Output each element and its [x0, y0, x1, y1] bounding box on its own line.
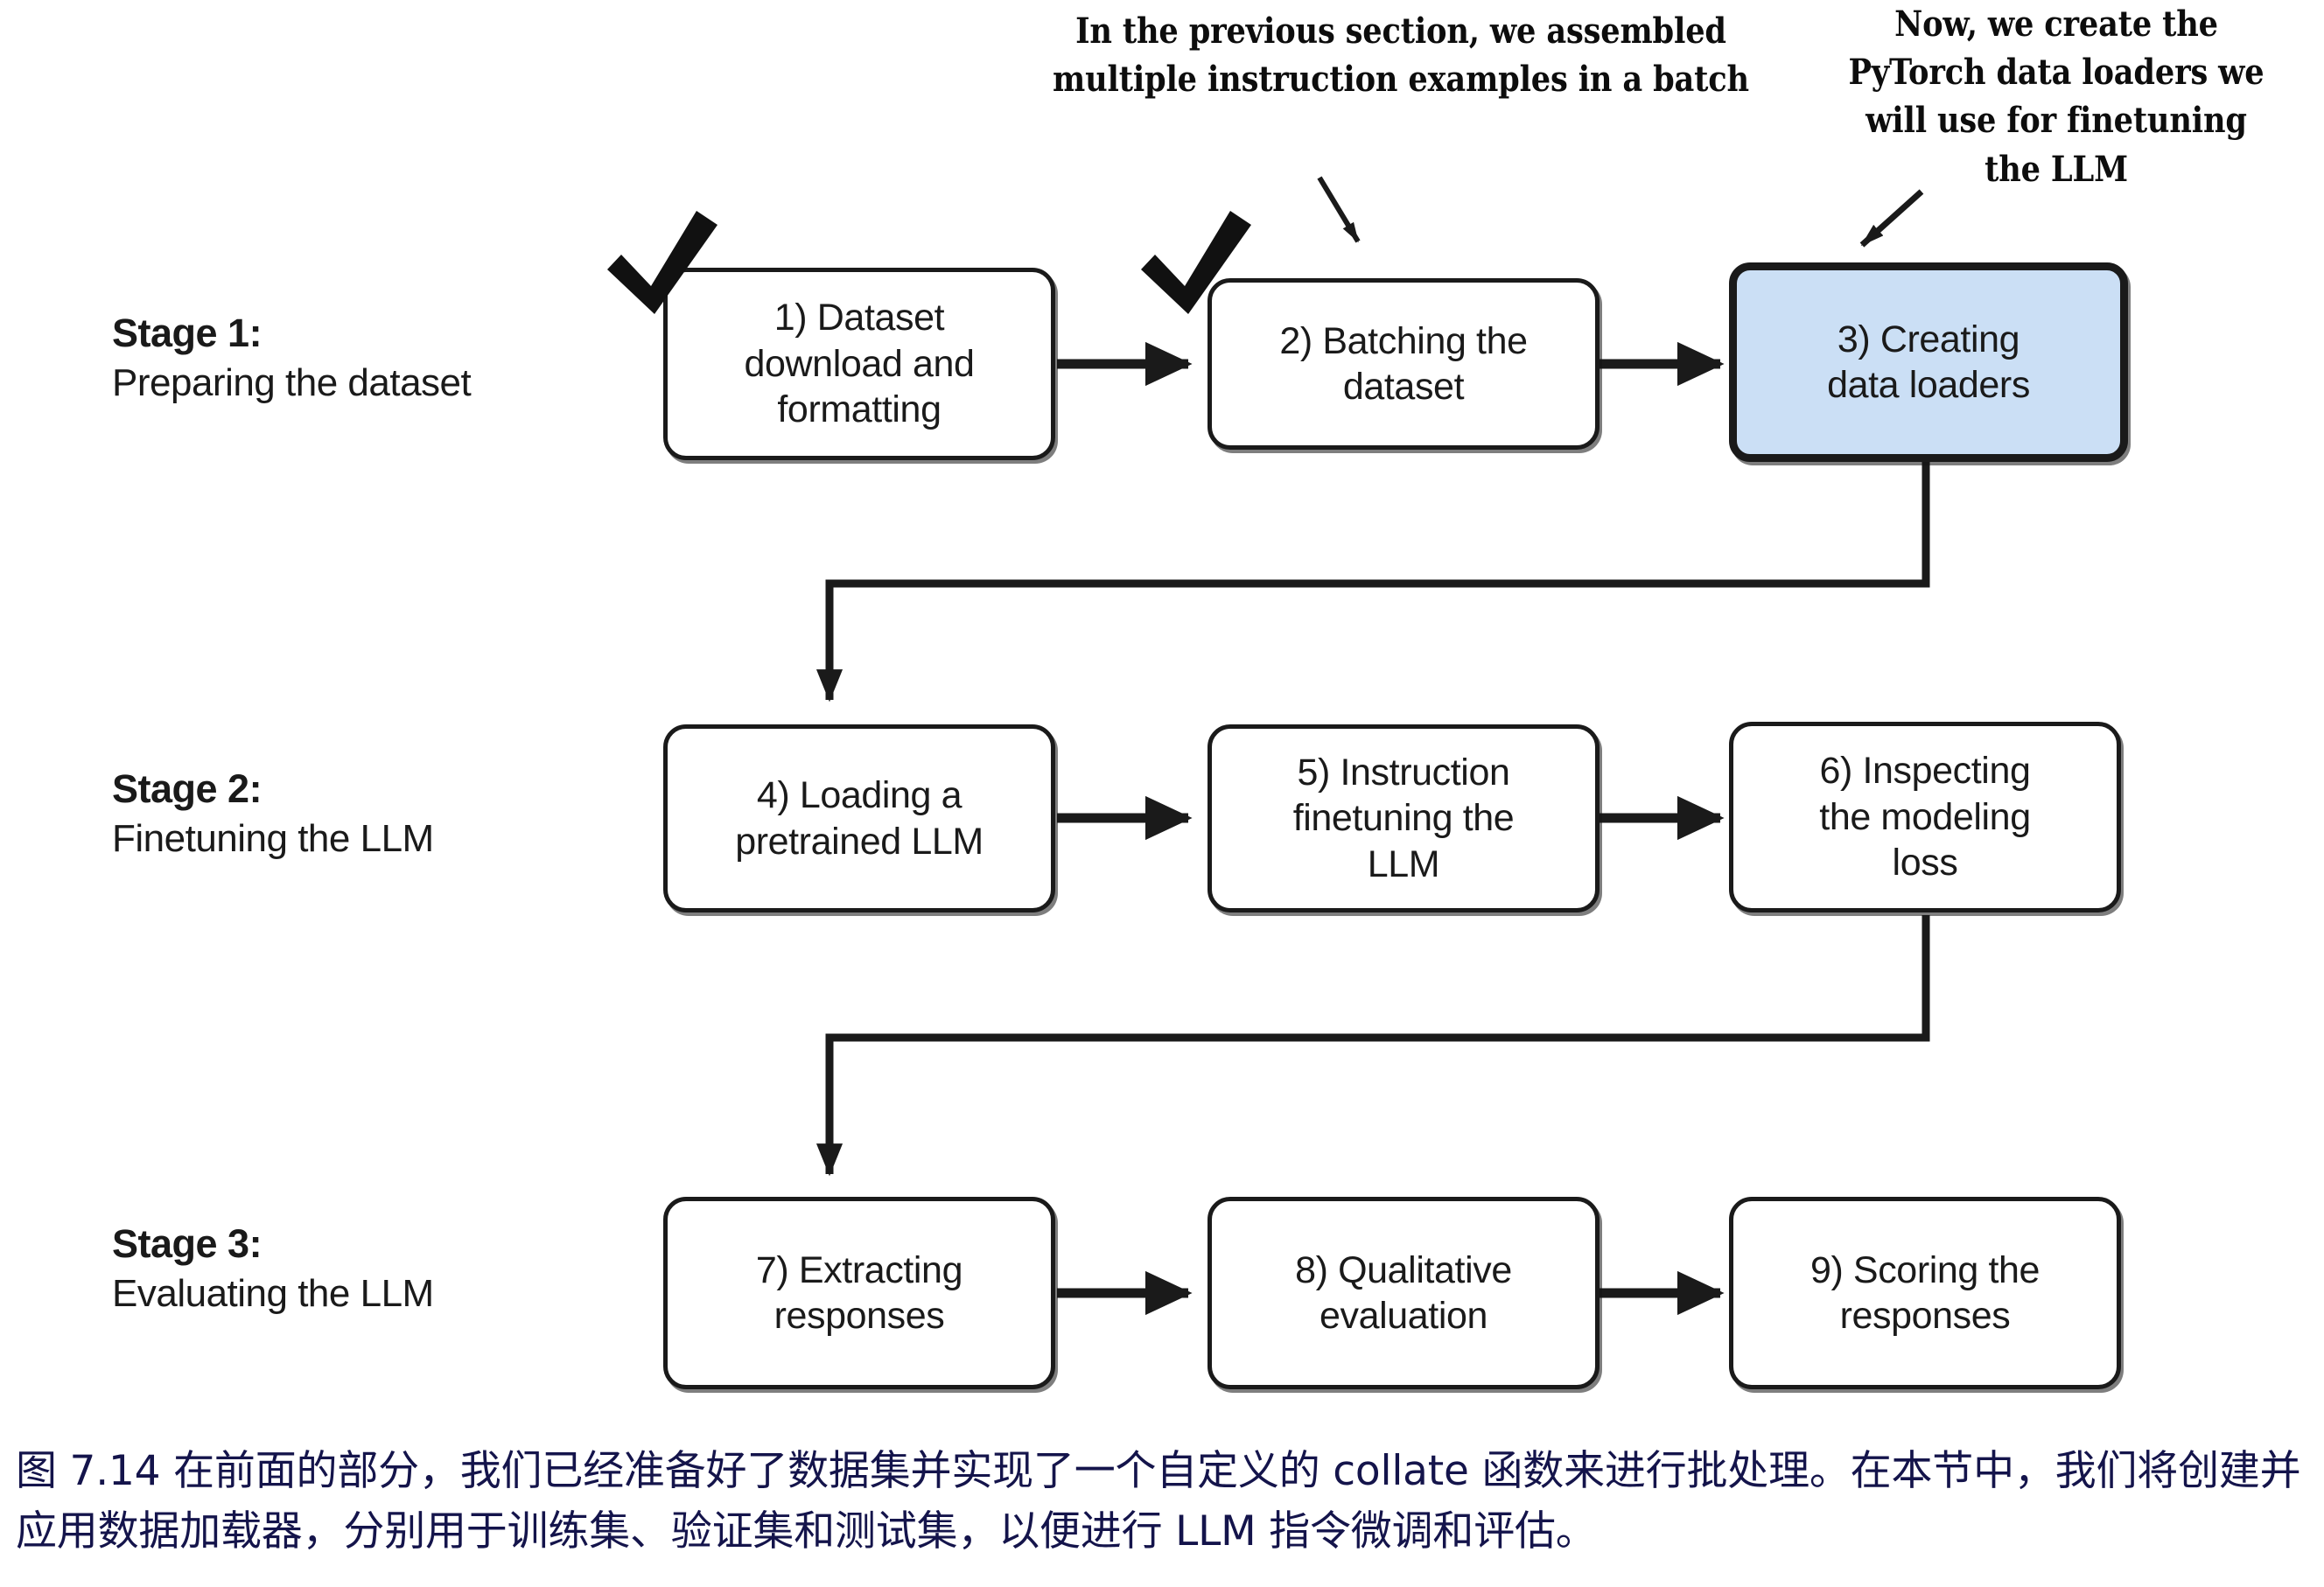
stage-1-subtitle: Preparing the dataset [112, 359, 637, 408]
stage-2-title: Stage 2: [112, 764, 637, 814]
annotation-previous-section: In the previous section, we assembled mu… [1012, 7, 1790, 103]
connector-node6-to-node7 [829, 915, 1926, 1174]
stage-label-3: Stage 3: Evaluating the LLM [112, 1219, 637, 1318]
node-9-label: 9) Scoring the responses [1810, 1248, 2040, 1339]
node-2-label: 2) Batching the dataset [1279, 318, 1527, 410]
node-batching-the-dataset[interactable]: 2) Batching the dataset [1207, 278, 1599, 450]
node-1-label: 1) Dataset download and formatting [745, 295, 975, 432]
stage-label-2: Stage 2: Finetuning the LLM [112, 764, 637, 863]
stage-2-subtitle: Finetuning the LLM [112, 814, 637, 863]
stage-3-title: Stage 3: [112, 1219, 637, 1269]
node-7-label: 7) Extracting responses [756, 1248, 962, 1339]
node-3-label: 3) Creating data loaders [1827, 317, 2030, 409]
node-6-label: 6) Inspecting the modeling loss [1819, 748, 2030, 885]
node-dataset-download-and-formatting[interactable]: 1) Dataset download and formatting [663, 268, 1055, 460]
connector-node3-to-node4 [829, 461, 1926, 700]
node-extracting-responses[interactable]: 7) Extracting responses [663, 1197, 1055, 1389]
node-qualitative-evaluation[interactable]: 8) Qualitative evaluation [1207, 1197, 1599, 1389]
node-5-label: 5) Instruction finetuning the LLM [1293, 750, 1515, 887]
annotation-now-create: Now, we create the PyTorch data loaders … [1833, 0, 2279, 193]
node-creating-data-loaders[interactable]: 3) Creating data loaders [1729, 262, 2128, 462]
annotation-pointer-2 [1862, 192, 1921, 245]
node-inspecting-the-modeling-loss[interactable]: 6) Inspecting the modeling loss [1729, 722, 2121, 912]
node-scoring-the-responses[interactable]: 9) Scoring the responses [1729, 1197, 2121, 1389]
stage-label-1: Stage 1: Preparing the dataset [112, 308, 637, 408]
node-instruction-finetuning-the-llm[interactable]: 5) Instruction finetuning the LLM [1207, 724, 1599, 912]
node-loading-a-pretrained-llm[interactable]: 4) Loading a pretrained LLM [663, 724, 1055, 912]
stage-1-title: Stage 1: [112, 308, 637, 359]
stage-3-subtitle: Evaluating the LLM [112, 1269, 637, 1318]
node-4-label: 4) Loading a pretrained LLM [735, 773, 983, 864]
node-8-label: 8) Qualitative evaluation [1295, 1248, 1512, 1339]
figure-caption: 图 7.14 在前面的部分，我们已经准备好了数据集并实现了一个自定义的 coll… [16, 1442, 2308, 1562]
figure-canvas: In the previous section, we assembled mu… [0, 0, 2324, 1587]
annotation-pointer-1 [1319, 178, 1358, 241]
